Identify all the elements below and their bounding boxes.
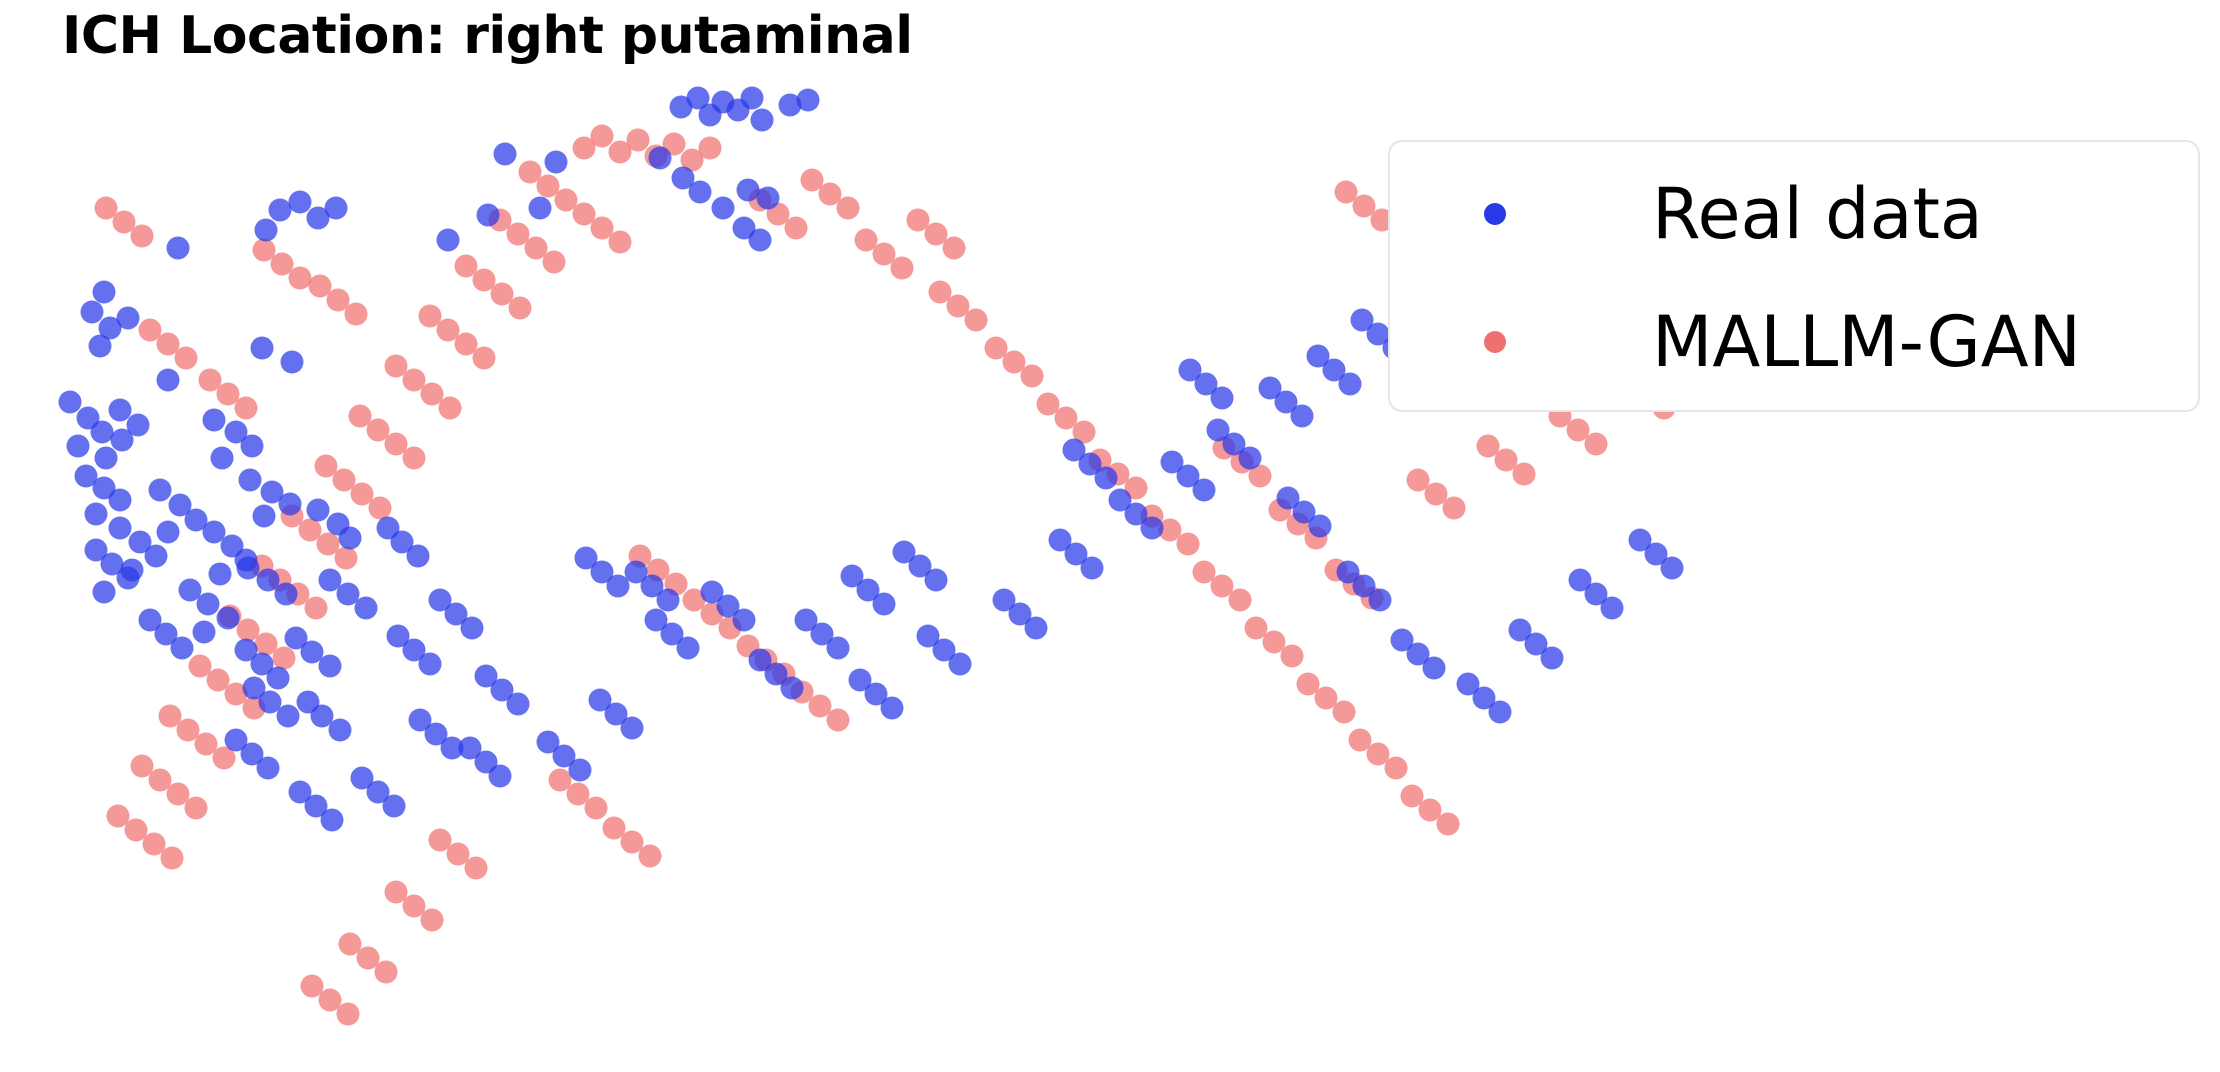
scatter-point	[81, 301, 104, 324]
scatter-point	[985, 337, 1008, 360]
scatter-point	[203, 409, 226, 432]
scatter-point	[171, 637, 194, 660]
scatter-point	[321, 809, 344, 832]
scatter-point	[157, 521, 180, 544]
scatter-point	[1193, 561, 1216, 584]
scatter-point	[537, 175, 560, 198]
scatter-point	[1095, 467, 1118, 490]
scatter-point	[369, 497, 392, 520]
scatter-point	[757, 187, 780, 210]
scatter-point	[519, 161, 542, 184]
scatter-point	[797, 89, 820, 112]
scatter-point	[429, 829, 452, 852]
scatter-point	[319, 569, 342, 592]
scatter-point	[827, 637, 850, 660]
scatter-point	[403, 895, 426, 918]
scatter-point	[489, 765, 512, 788]
scatter-point	[339, 527, 362, 550]
scatter-point	[267, 667, 290, 690]
scatter-point	[351, 483, 374, 506]
scatter-point	[109, 399, 132, 422]
scatter-point	[337, 1003, 360, 1026]
scatter-point	[627, 129, 650, 152]
scatter-point	[143, 833, 166, 856]
scatter-point	[269, 199, 292, 222]
scatter-point	[1281, 645, 1304, 668]
scatter-point	[357, 947, 380, 970]
scatter-point	[255, 633, 278, 656]
scatter-point	[621, 831, 644, 854]
scatter-point	[891, 257, 914, 280]
scatter-point	[157, 333, 180, 356]
scatter-point	[307, 499, 330, 522]
scatter-point	[279, 493, 302, 516]
scatter-point	[207, 669, 230, 692]
scatter-point	[319, 655, 342, 678]
scatter-point	[1239, 447, 1262, 470]
scatter-point	[649, 147, 672, 170]
scatter-point	[1495, 449, 1518, 472]
scatter-point	[873, 243, 896, 266]
scatter-point	[179, 579, 202, 602]
scatter-point	[273, 647, 296, 670]
scatter-point	[1291, 405, 1314, 428]
scatter-point	[139, 319, 162, 342]
scatter-point	[712, 197, 735, 220]
scatter-point	[591, 217, 614, 240]
scatter-point	[421, 909, 444, 932]
scatter-point	[367, 419, 390, 442]
scatter-point	[1021, 365, 1044, 388]
scatter-point	[949, 653, 972, 676]
scatter-point	[149, 479, 172, 502]
scatter-point	[195, 733, 218, 756]
scatter-point	[929, 281, 952, 304]
scatter-point	[549, 769, 572, 792]
scatter-point	[491, 283, 514, 306]
scatter-point	[1407, 469, 1430, 492]
scatter-point	[217, 383, 240, 406]
scatter-point	[507, 223, 530, 246]
scatter-point	[785, 217, 808, 240]
scatter-point	[855, 229, 878, 252]
legend-entry-real-data[interactable]: Real data	[1390, 164, 2198, 264]
scatter-point	[157, 369, 180, 392]
scatter-point	[257, 757, 280, 780]
scatter-point	[494, 143, 517, 166]
scatter-point	[677, 637, 700, 660]
scatter-point	[385, 881, 408, 904]
scatter-point	[193, 621, 216, 644]
scatter-point	[639, 845, 662, 868]
scatter-point	[1333, 701, 1356, 724]
scatter-point	[217, 607, 240, 630]
scatter-point	[209, 563, 232, 586]
scatter-point	[91, 421, 114, 444]
scatter-point	[419, 653, 442, 676]
scatter-point	[109, 517, 132, 540]
scatter-point	[327, 289, 350, 312]
scatter-point	[657, 589, 680, 612]
scatter-point	[289, 191, 312, 214]
scatter-point	[477, 204, 500, 227]
scatter-point	[1297, 673, 1320, 696]
scatter-point	[465, 857, 488, 880]
scatter-point	[289, 267, 312, 290]
scatter-point	[333, 469, 356, 492]
scatter-point	[455, 333, 478, 356]
scatter-point	[125, 819, 148, 842]
scatter-point	[1353, 195, 1376, 218]
scatter-point	[175, 347, 198, 370]
scatter-point	[253, 239, 276, 262]
scatter-point	[345, 303, 368, 326]
scatter-point	[801, 169, 824, 192]
scatter-point	[131, 225, 154, 248]
scatter-point	[251, 337, 274, 360]
scatter-point	[203, 521, 226, 544]
scatter-point	[1513, 463, 1536, 486]
scatter-point	[1661, 557, 1684, 580]
scatter-point	[407, 545, 430, 568]
scatter-point	[257, 569, 280, 592]
scatter-point	[385, 433, 408, 456]
scatter-point	[131, 755, 154, 778]
page-title: ICH Location: right putaminal	[62, 6, 913, 66]
scatter-point	[197, 593, 220, 616]
scatter-point	[1211, 387, 1234, 410]
scatter-point	[335, 547, 358, 570]
scatter-point	[337, 583, 360, 606]
scatter-point	[325, 197, 348, 220]
scatter-point	[573, 203, 596, 226]
legend-label-mallm-gan: MALLM-GAN	[1652, 292, 2081, 392]
scatter-point	[925, 569, 948, 592]
scatter-point	[1385, 757, 1408, 780]
scatter-point	[907, 209, 930, 232]
scatter-point	[239, 469, 262, 492]
scatter-point	[161, 847, 184, 870]
scatter-point	[1477, 435, 1500, 458]
scatter-point	[585, 797, 608, 820]
scatter-point	[621, 717, 644, 740]
scatter-point	[447, 843, 470, 866]
scatter-point	[1177, 533, 1200, 556]
scatter-point	[301, 975, 324, 998]
scatter-point	[315, 455, 338, 478]
scatter-point	[1585, 433, 1608, 456]
scatter-point	[749, 229, 772, 252]
scatter-point	[1567, 419, 1590, 442]
scatter-point	[403, 369, 426, 392]
scatter-point	[275, 583, 298, 606]
scatter-point	[255, 219, 278, 242]
scatter-point	[1489, 701, 1512, 724]
scatter-point	[1339, 373, 1362, 396]
legend-label-real-data: Real data	[1652, 164, 1983, 264]
scatter-point	[1025, 617, 1048, 640]
scatter-point	[85, 503, 108, 526]
scatter-point	[259, 691, 282, 714]
scatter-point	[421, 383, 444, 406]
scatter-point	[1419, 799, 1442, 822]
scatter-point	[437, 229, 460, 252]
scatter-point	[349, 405, 372, 428]
scatter-point	[1309, 515, 1332, 538]
scatter-point	[529, 197, 552, 220]
scatter-point	[1211, 575, 1234, 598]
scatter-point	[385, 355, 408, 378]
scatter-point	[925, 223, 948, 246]
scatter-point	[111, 429, 134, 452]
scatter-point	[271, 253, 294, 276]
scatter-point	[301, 641, 324, 664]
scatter-point	[509, 297, 532, 320]
scatter-point	[699, 137, 722, 160]
scatter-point	[1601, 597, 1624, 620]
scatter-point	[403, 447, 426, 470]
scatter-point	[95, 447, 118, 470]
scatter-point	[317, 533, 340, 556]
scatter-point	[525, 237, 548, 260]
scatter-point	[277, 705, 300, 728]
scatter-point	[781, 677, 804, 700]
scatter-point	[189, 655, 212, 678]
scatter-point	[1263, 631, 1286, 654]
scatter-point	[809, 695, 832, 718]
scatter-point	[59, 391, 82, 414]
scatter-point	[819, 183, 842, 206]
scatter-point	[473, 269, 496, 292]
scatter-point	[1081, 557, 1104, 580]
scatter-point	[93, 281, 116, 304]
scatter-point	[543, 251, 566, 274]
scatter-point	[253, 505, 276, 528]
scatter-point	[117, 307, 140, 330]
scatter-point	[881, 697, 904, 720]
scatter-point	[211, 447, 234, 470]
scatter-point	[375, 961, 398, 984]
scatter-point	[113, 211, 136, 234]
scatter-point	[737, 179, 760, 202]
scatter-point	[149, 769, 172, 792]
scatter-point	[67, 435, 90, 458]
scatter-point	[329, 719, 352, 742]
scatter-point	[305, 597, 328, 620]
scatter-point	[1349, 729, 1372, 752]
scatter-point	[1541, 647, 1564, 670]
scatter-point	[309, 275, 332, 298]
scatter-point	[177, 719, 200, 742]
scatter-point	[965, 309, 988, 332]
scatter-point	[733, 609, 756, 632]
scatter-point	[237, 619, 260, 642]
scatter-point	[1229, 589, 1252, 612]
scatter-point	[237, 557, 260, 580]
scatter-point	[1423, 657, 1446, 680]
scatter-point	[355, 597, 378, 620]
scatter-point	[567, 783, 590, 806]
scatter-point	[827, 709, 850, 732]
scatter-point	[1037, 393, 1060, 416]
scatter-point	[311, 705, 334, 728]
scatter-point	[1369, 589, 1392, 612]
scatter-point	[947, 295, 970, 318]
chart-legend[interactable]: Real data MALLM-GAN	[1388, 140, 2200, 412]
scatter-point	[751, 109, 774, 132]
scatter-point	[1003, 351, 1026, 374]
scatter-point	[591, 125, 614, 148]
legend-entry-mallm-gan[interactable]: MALLM-GAN	[1390, 292, 2198, 392]
scatter-point	[455, 255, 478, 278]
scatter-point	[89, 335, 112, 358]
scatter-point	[159, 705, 182, 728]
circle-marker-salmon-icon	[1484, 331, 1506, 353]
scatter-point	[943, 237, 966, 260]
scatter-point	[235, 397, 258, 420]
scatter-point	[569, 759, 592, 782]
scatter-point	[281, 351, 304, 374]
circle-marker-blue-icon	[1484, 203, 1506, 225]
scatter-point	[1425, 483, 1448, 506]
scatter-point	[603, 817, 626, 840]
scatter-point	[555, 189, 578, 212]
scatter-point	[339, 933, 362, 956]
scatter-point	[873, 593, 896, 616]
scatter-point	[109, 489, 132, 512]
scatter-point	[461, 617, 484, 640]
scatter-point	[1315, 687, 1338, 710]
scatter-point	[1245, 617, 1268, 640]
scatter-point	[1367, 743, 1390, 766]
scatter-point	[545, 151, 568, 174]
scatter-point	[167, 783, 190, 806]
scatter-point	[609, 231, 632, 254]
scatter-point	[437, 319, 460, 342]
scatter-point	[319, 989, 342, 1012]
scatter-point	[117, 567, 140, 590]
scatter-point	[107, 805, 130, 828]
scatter-figure: ICH Location: right putaminal Real data …	[0, 0, 2220, 1072]
scatter-point	[439, 397, 462, 420]
scatter-point	[1335, 181, 1358, 204]
scatter-point	[299, 519, 322, 542]
scatter-point	[607, 575, 630, 598]
scatter-point	[95, 197, 118, 220]
scatter-point	[1437, 813, 1460, 836]
scatter-point	[741, 87, 764, 110]
scatter-point	[419, 305, 442, 328]
scatter-point	[145, 545, 168, 568]
scatter-point	[473, 347, 496, 370]
scatter-point	[93, 581, 116, 604]
scatter-point	[689, 181, 712, 204]
scatter-point	[507, 693, 530, 716]
scatter-point	[1141, 517, 1164, 540]
scatter-point	[1055, 407, 1078, 430]
scatter-point	[1193, 479, 1216, 502]
scatter-point	[1401, 785, 1424, 808]
scatter-point	[241, 435, 264, 458]
scatter-point	[167, 237, 190, 260]
scatter-point	[837, 197, 860, 220]
scatter-point	[1443, 497, 1466, 520]
scatter-point	[185, 797, 208, 820]
scatter-point	[383, 795, 406, 818]
scatter-point	[199, 369, 222, 392]
